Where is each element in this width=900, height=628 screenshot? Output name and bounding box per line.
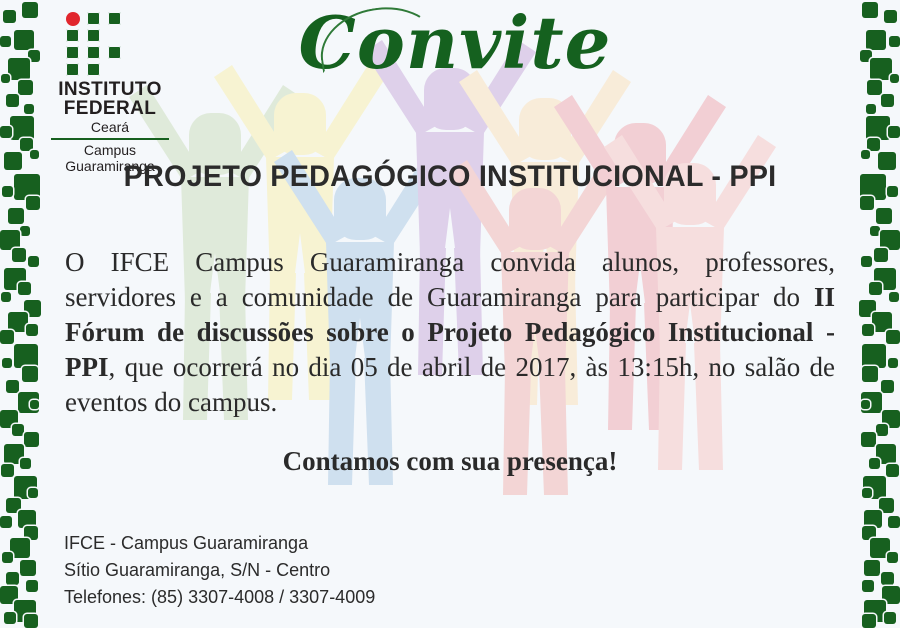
page-title: PROJETO PEDAGÓGICO INSTITUCIONAL - PPI [18, 160, 882, 194]
footer-address: Sítio Guaramiranga, S/N - Centro [64, 557, 375, 584]
ifce-pixel-f-logo-icon [66, 12, 122, 76]
logo-divider [51, 138, 169, 140]
body-run: O IFCE Campus Guaramiranga convida aluno… [65, 247, 835, 312]
footer-phones: Telefones: (85) 3307-4008 / 3307-4009 [64, 584, 375, 611]
ifce-logo: INSTITUTO FEDERAL Ceará Campus Guaramira… [40, 8, 180, 174]
logo-campus-label: Campus [40, 142, 180, 158]
invitation-poster: INSTITUTO FEDERAL Ceará Campus Guaramira… [0, 0, 900, 628]
invitation-body-text: O IFCE Campus Guaramiranga convida aluno… [65, 245, 835, 420]
logo-line-instituto: INSTITUTO [40, 80, 180, 99]
logo-state: Ceará [40, 119, 180, 138]
logo-line-federal: FEDERAL [40, 99, 180, 118]
footer-institution: IFCE - Campus Guaramiranga [64, 530, 375, 557]
convite-text: Convite [299, 0, 612, 85]
script-title-convite: Convite [290, 2, 620, 85]
body-run: , que ocorrerá no dia 05 de abril de 201… [65, 352, 835, 417]
call-to-action: Contamos com sua presença! [0, 446, 900, 477]
footer-contact-block: IFCE - Campus Guaramiranga Sítio Guarami… [64, 530, 375, 611]
